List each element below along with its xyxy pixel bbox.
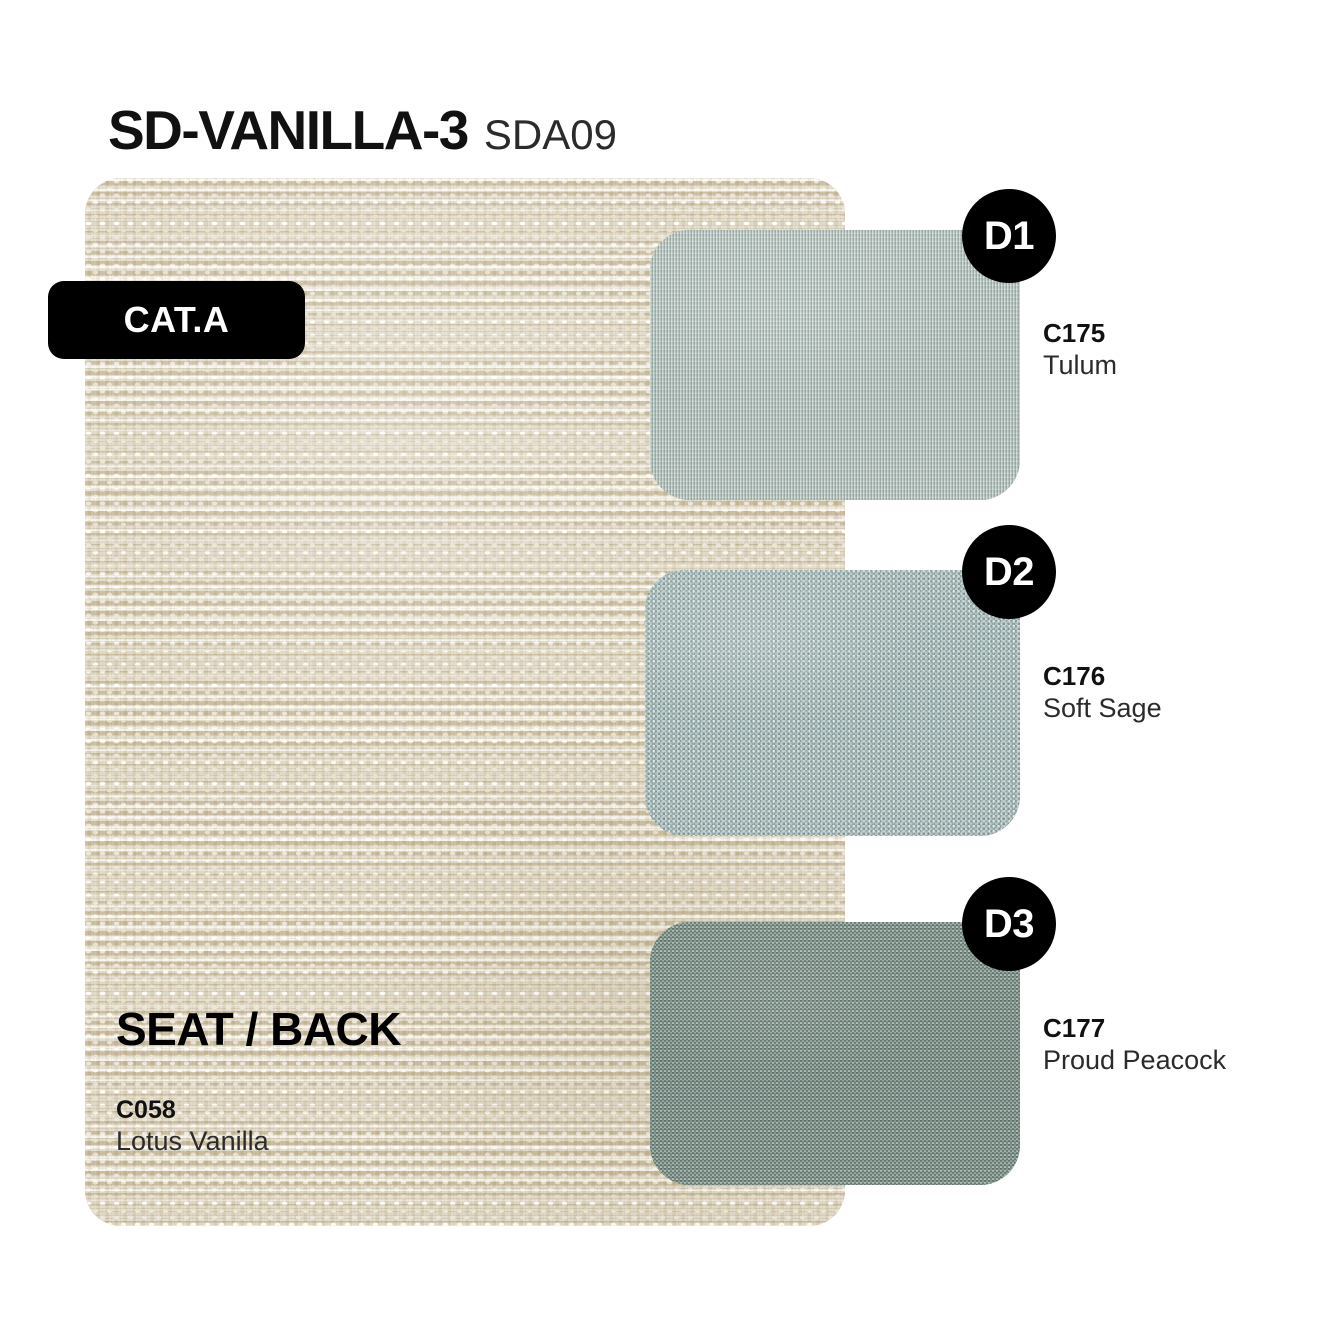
fabric-subcode: SDA09 — [484, 114, 617, 156]
accent-swatch-d1[interactable] — [650, 230, 1020, 500]
legend-d1-code: C175 — [1043, 318, 1117, 349]
accent-badge-d3[interactable]: D3 — [962, 877, 1056, 971]
accent-swatch-d2[interactable] — [645, 570, 1020, 836]
legend-d2-name: Soft Sage — [1043, 692, 1162, 726]
legend-d3-name: Proud Peacock — [1043, 1044, 1226, 1078]
legend-d1: C175 Tulum — [1043, 318, 1117, 382]
category-badge-label: CAT.A — [124, 299, 230, 341]
fabric-texture-tulum — [650, 230, 1020, 500]
accent-badge-d1-label: D1 — [984, 216, 1034, 256]
accent-swatch-d3[interactable] — [650, 922, 1020, 1185]
fabric-texture-soft-sage — [645, 570, 1020, 836]
main-color-code: C058 — [116, 1096, 401, 1125]
fabric-spec-sheet: SD-VANILLA-3 SDA09 SEAT / BACK C058 Lotu… — [0, 0, 1333, 1333]
legend-d3-code: C177 — [1043, 1013, 1226, 1044]
accent-badge-d2-label: D2 — [984, 552, 1034, 592]
main-fabric-caption: SEAT / BACK C058 Lotus Vanilla — [116, 1006, 401, 1159]
category-badge[interactable]: CAT.A — [48, 281, 305, 359]
accent-badge-d2[interactable]: D2 — [962, 525, 1056, 619]
legend-d1-name: Tulum — [1043, 349, 1117, 383]
fabric-texture-proud-peacock — [650, 922, 1020, 1185]
fabric-code: SD-VANILLA-3 — [108, 103, 468, 158]
accent-badge-d3-label: D3 — [984, 904, 1034, 944]
page-title: SD-VANILLA-3 SDA09 — [108, 103, 617, 158]
part-title: SEAT / BACK — [116, 1006, 401, 1052]
accent-badge-d1[interactable]: D1 — [962, 189, 1056, 283]
main-color-name: Lotus Vanilla — [116, 1125, 401, 1159]
legend-d2-code: C176 — [1043, 661, 1162, 692]
legend-d3: C177 Proud Peacock — [1043, 1013, 1226, 1077]
legend-d2: C176 Soft Sage — [1043, 661, 1162, 725]
